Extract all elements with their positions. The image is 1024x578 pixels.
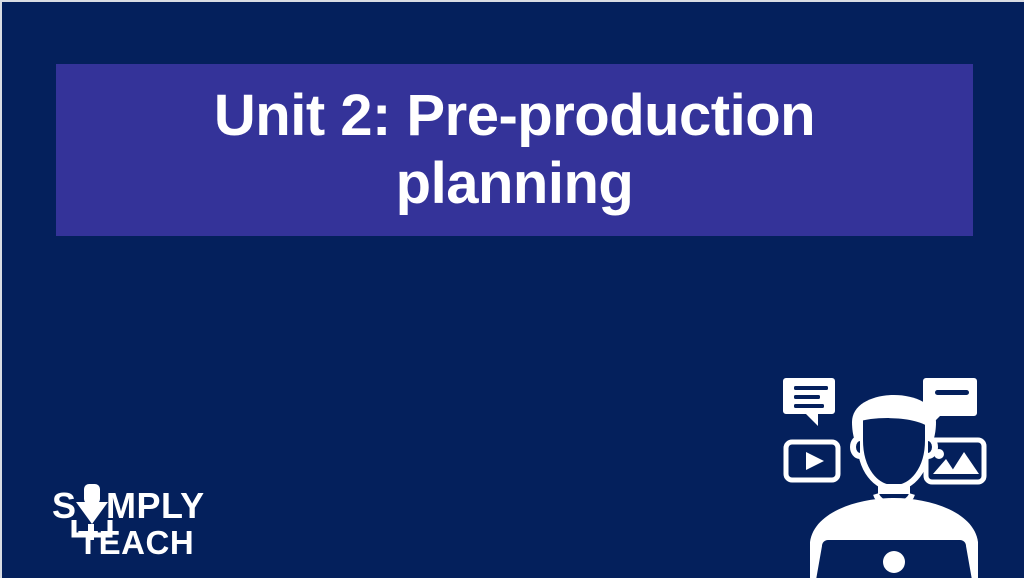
- title-band: Unit 2: Pre-production planning: [56, 64, 973, 236]
- slide-canvas: Unit 2: Pre-production planning S MPLY T…: [0, 0, 1024, 578]
- download-arrow-icon: [76, 484, 108, 524]
- person-with-laptop-icon: [810, 395, 978, 578]
- video-player-icon: [786, 442, 838, 480]
- simply-teach-logo: S MPLY TEACH: [50, 480, 210, 558]
- logo-text-teach: TEACH: [78, 524, 194, 558]
- logo-letter-s: S: [52, 485, 77, 526]
- chat-bubble-icon: [783, 378, 835, 426]
- online-learning-illustration: [778, 366, 1010, 578]
- page-title: Unit 2: Pre-production planning: [56, 82, 973, 219]
- logo-text-mply: MPLY: [106, 485, 205, 526]
